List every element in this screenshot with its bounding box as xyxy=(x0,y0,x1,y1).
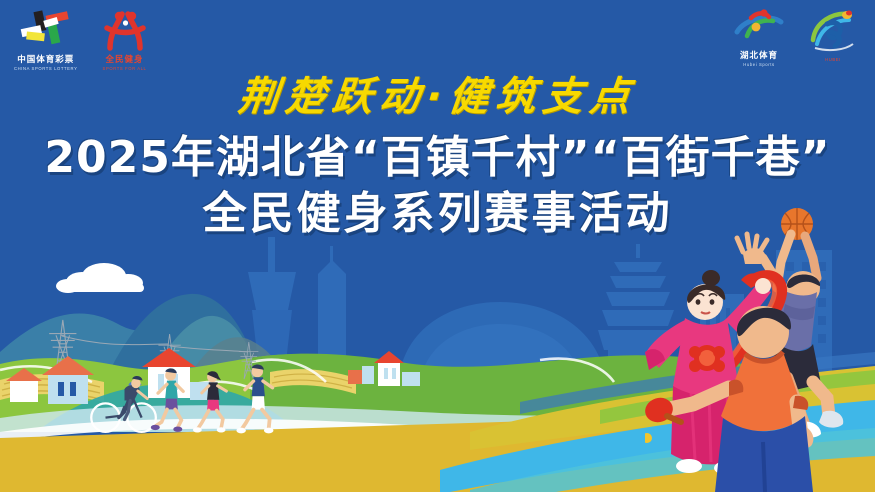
title-line-2: 全民健身系列赛事活动 xyxy=(0,188,875,240)
logo-label-cn: 全民健身 xyxy=(106,53,144,65)
sports-for-all-mark xyxy=(96,8,154,52)
title-line-1: 2025年湖北省“百镇千村”“百街千巷” xyxy=(0,132,875,184)
logo-group-left: 中国体育彩票 CHINA SPORTS LOTTERY 全民健身 SPORTS … xyxy=(14,8,154,71)
logo-label-en: HUBEI xyxy=(825,57,841,62)
logo-bar: 中国体育彩票 CHINA SPORTS LOTTERY 全民健身 SPORTS … xyxy=(0,0,875,78)
logo-group-right: 湖北体育 Hubei Sports HUBEI xyxy=(731,6,861,67)
sports-for-all-logo: 全民健身 SPORTS FOR ALL xyxy=(96,8,154,71)
tagline: 荆楚跃动·健筑支点 xyxy=(0,74,875,120)
ping-pong-ball xyxy=(645,433,652,443)
robe-flower xyxy=(689,345,725,372)
china-sports-lottery-logo: 中国体育彩票 CHINA SPORTS LOTTERY xyxy=(14,8,78,71)
logo-label-en: SPORTS FOR ALL xyxy=(103,66,147,71)
logo-label-en: Hubei Sports xyxy=(743,62,774,67)
hubei-tourism-logo: HUBEI xyxy=(805,6,861,62)
cloud-icon xyxy=(52,262,160,301)
china-sports-lottery-mark xyxy=(15,8,77,52)
hubei-sports-mark xyxy=(731,6,787,48)
hubei-tourism-mark xyxy=(805,6,861,56)
logo-label-cn: 中国体育彩票 xyxy=(17,53,74,65)
hubei-sports-logo: 湖北体育 Hubei Sports xyxy=(731,6,787,67)
promotional-poster: 中国体育彩票 CHINA SPORTS LOTTERY 全民健身 SPORTS … xyxy=(0,0,875,492)
headline-block: 荆楚跃动·健筑支点 2025年湖北省“百镇千村”“百街千巷” 全民健身系列赛事活… xyxy=(0,74,875,240)
logo-label-cn: 湖北体育 xyxy=(740,49,778,61)
logo-label-en: CHINA SPORTS LOTTERY xyxy=(14,66,78,71)
